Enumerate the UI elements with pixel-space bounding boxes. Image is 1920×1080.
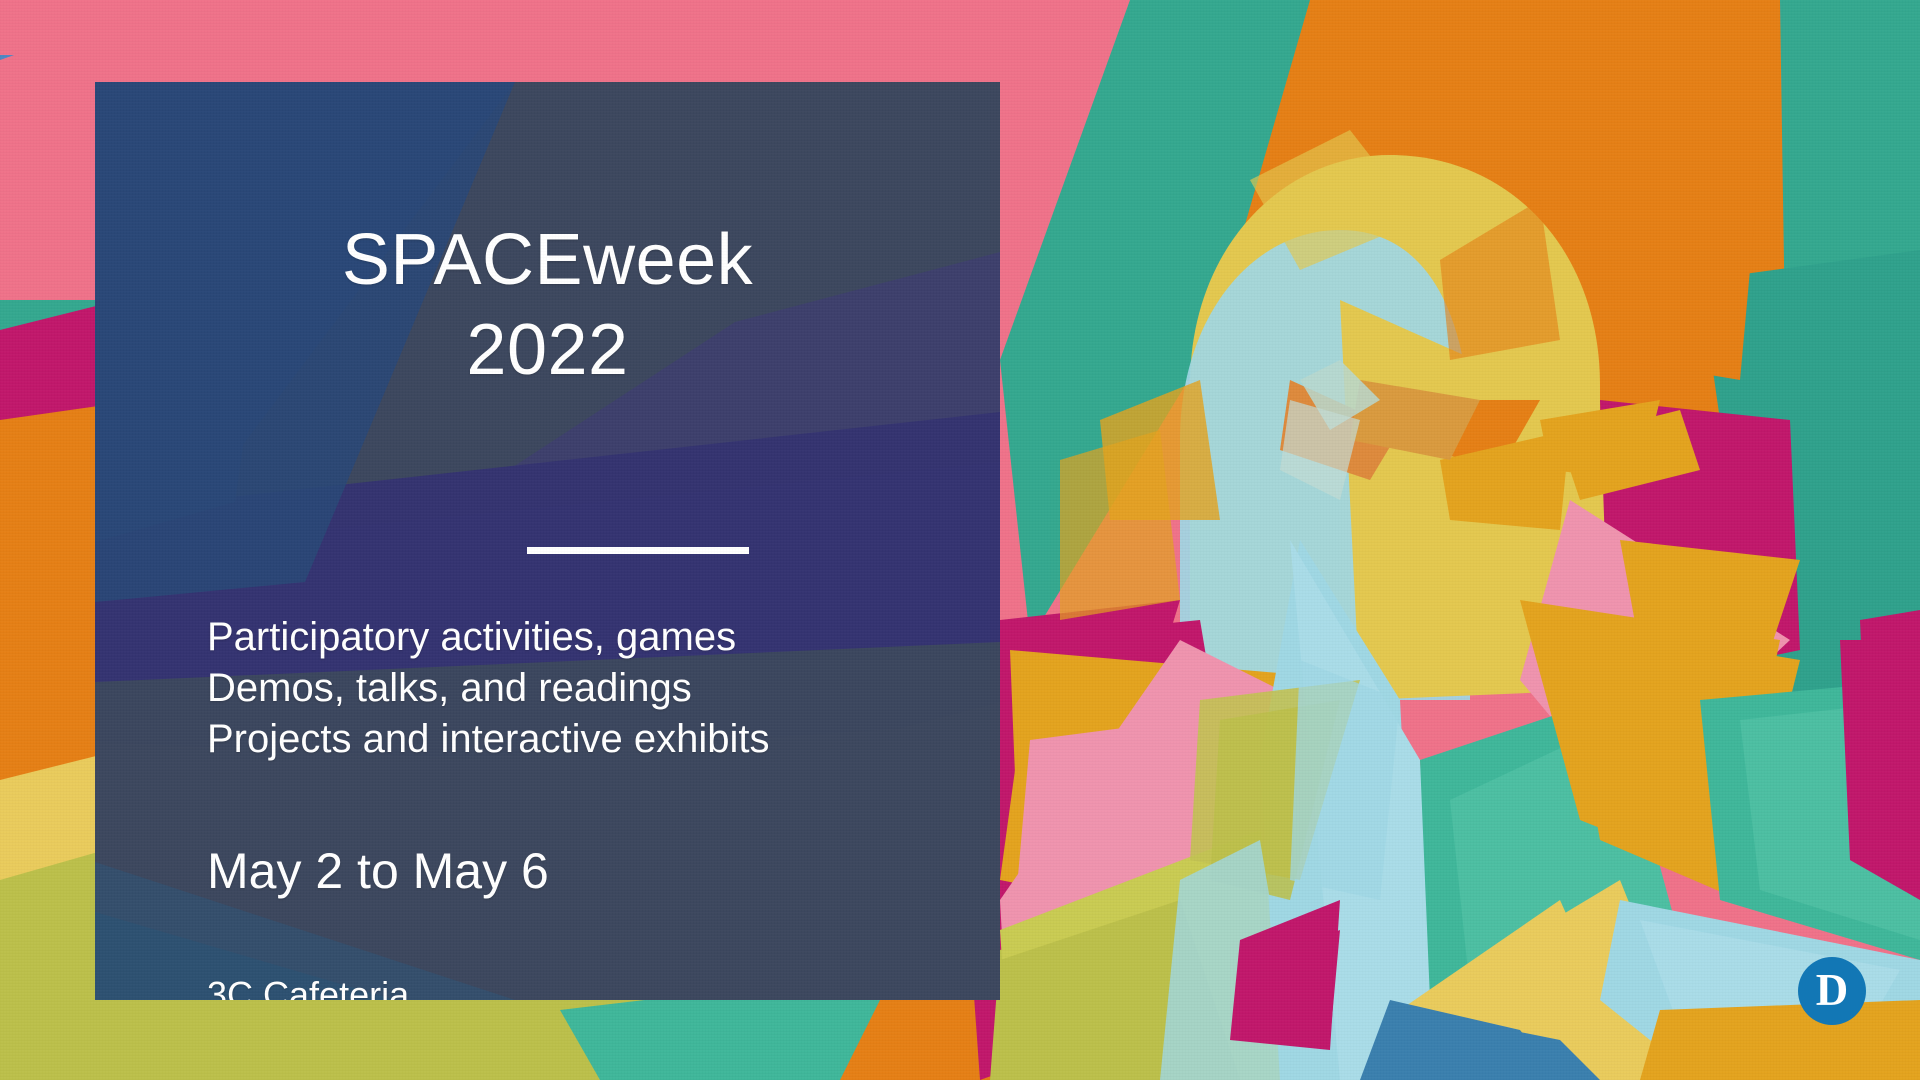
info-panel: SPACEweek 2022 Participatory activities,… (95, 82, 1000, 1000)
page-title-line-1: SPACEweek (95, 222, 1000, 300)
panel-content: SPACEweek 2022 Participatory activities,… (95, 82, 1000, 1000)
logo-letter: D (1816, 968, 1849, 1013)
event-dates: May 2 to May 6 (207, 842, 549, 900)
event-venue: 3C Cafeteria (207, 974, 409, 1000)
title-divider-rule (527, 547, 749, 554)
poster-canvas: SPACEweek 2022 Participatory activities,… (0, 0, 1920, 1080)
description-block: Participatory activities, games Demos, t… (207, 612, 967, 764)
d-monogram-logo: D (1798, 957, 1866, 1025)
description-line-1: Participatory activities, games (207, 612, 967, 663)
page-title-line-2: 2022 (95, 312, 1000, 390)
description-line-3: Projects and interactive exhibits (207, 714, 967, 765)
description-line-2: Demos, talks, and readings (207, 663, 967, 714)
